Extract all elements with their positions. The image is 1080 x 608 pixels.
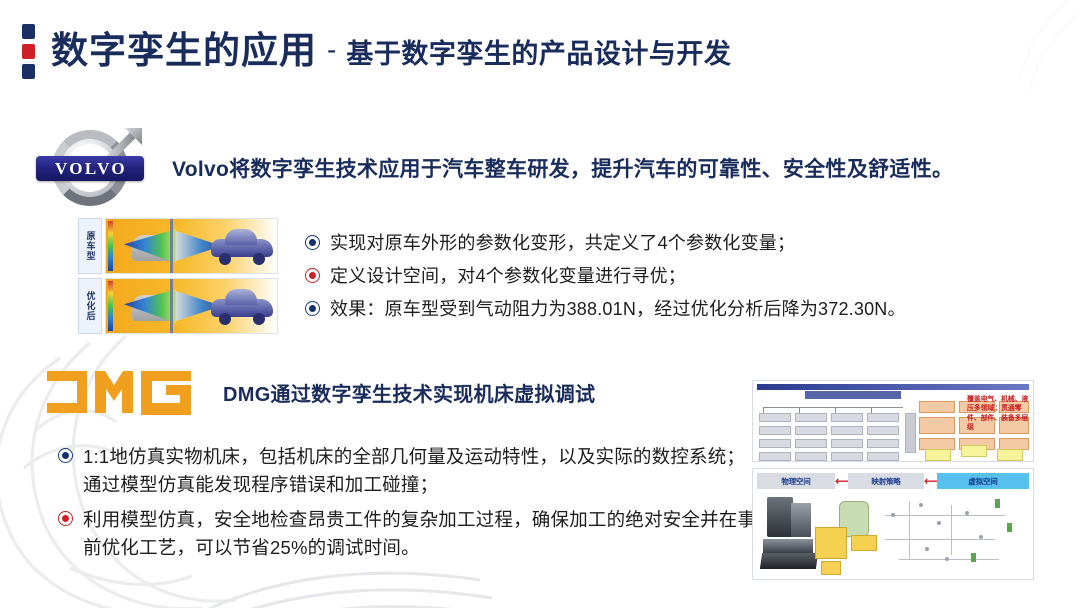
volvo-bullet-list: 实现对原车外形的参数化变形，共定义了4个参数化变量； 定义设计空间，对4个参数化… bbox=[305, 230, 995, 329]
diagram-arrow-right-icon: ⟷ bbox=[924, 475, 937, 487]
list-item: 效果：原车型受到气动阻力为388.01N，经过优化分析后降为372.30N。 bbox=[305, 296, 995, 322]
diagram-label-virtual-space: 虚拟空间 bbox=[937, 473, 1029, 489]
bullet-text: 效果：原车型受到气动阻力为388.01N，经过优化分析后降为372.30N。 bbox=[330, 296, 906, 322]
title-marker-square-top bbox=[22, 24, 35, 39]
diagram-panel-hierarchy: 覆盖电气、机械、液压多领域；贯通零件、部件、装备多层级 bbox=[752, 380, 1034, 462]
cfd-row-optimized: 优化后 bbox=[78, 278, 278, 334]
dmg-diagram-figure: 覆盖电气、机械、液压多领域；贯通零件、部件、装备多层级 物理空间 ⟷ 映射策略 … bbox=[752, 380, 1034, 580]
title-marker-square-middle bbox=[22, 44, 35, 59]
dmg-bullet-list: 1:1地仿真实物机床，包括机床的全部几何量及运动特性，以及实际的数控系统；通过模… bbox=[58, 443, 758, 569]
diagram-yellow-box-1 bbox=[925, 449, 951, 461]
bullet-dot-navy-icon bbox=[305, 301, 320, 316]
diagram-tree bbox=[759, 403, 911, 459]
page-subtitle: 基于数字孪生的产品设计与开发 bbox=[346, 32, 731, 71]
diagram-yellow-module-main bbox=[815, 527, 847, 559]
diagram-yellow-box-3 bbox=[997, 449, 1023, 461]
diagram-red-annotation: 覆盖电气、机械、液压多领域；贯通零件、部件、装备多层级 bbox=[967, 395, 1029, 433]
diagram-panel-mapping: 物理空间 ⟷ 映射策略 ⟷ 虚拟空间 bbox=[752, 468, 1034, 580]
diagram-label-mapping-strategy: 映射策略 bbox=[848, 473, 924, 489]
dmg-logo-mark bbox=[45, 369, 197, 415]
list-item: 利用模型仿真，安全地检查昂贵工件的复杂加工过程，确保加工的绝对安全并在事前优化工… bbox=[58, 506, 758, 562]
list-item: 1:1地仿真实物机床，包括机床的全部几何量及运动特性，以及实际的数控系统；通过模… bbox=[58, 443, 758, 499]
cfd-car-3d-2 bbox=[211, 287, 273, 325]
dmg-logo bbox=[45, 368, 197, 416]
bullet-text: 实现对原车外形的参数化变形，共定义了4个参数化变量； bbox=[330, 230, 795, 256]
dmg-heading: DMG通过数字孪生技术实现机床虚拟调试 bbox=[223, 378, 595, 407]
volvo-wordmark-bar: VOLVO bbox=[36, 156, 144, 181]
diagram-virtual-network bbox=[879, 495, 1029, 575]
diagram-mapping-header: 物理空间 ⟷ 映射策略 ⟷ 虚拟空间 bbox=[757, 473, 1029, 489]
diagram-orange-column-1 bbox=[919, 401, 955, 454]
cfd-row-original: 原车型 bbox=[78, 218, 278, 274]
slide-root: 数字孪生的应用 - 基于数字孪生的产品设计与开发 VOLVO Volvo将数字孪… bbox=[0, 0, 1080, 608]
slide-title-row: 数字孪生的应用 - 基于数字孪生的产品设计与开发 bbox=[22, 24, 731, 79]
diagram-title-bar bbox=[757, 384, 1029, 390]
page-title: 数字孪生的应用 bbox=[51, 32, 317, 69]
cfd-colorbar-2 bbox=[108, 281, 113, 331]
cfd-pane-optimized bbox=[105, 278, 278, 334]
volvo-wordmark-text: VOLVO bbox=[53, 159, 127, 179]
bullet-dot-red-icon bbox=[58, 511, 73, 526]
title-marker-square-bottom bbox=[22, 64, 35, 79]
cfd-divider bbox=[170, 219, 173, 273]
cfd-colorbar bbox=[108, 221, 113, 271]
cfd-pane-original bbox=[105, 218, 278, 274]
diagram-yellow-module-bottom bbox=[821, 561, 841, 575]
diagram-label-physical-space: 物理空间 bbox=[757, 473, 835, 489]
cfd-label-optimized: 优化后 bbox=[78, 278, 102, 334]
title-separator-dash: - bbox=[327, 34, 336, 66]
bullet-dot-red-icon bbox=[305, 268, 320, 283]
bullet-text: 利用模型仿真，安全地检查昂贵工件的复杂加工过程，确保加工的绝对安全并在事前优化工… bbox=[83, 506, 758, 562]
diagram-title-placeholder bbox=[805, 391, 901, 399]
cfd-label-original: 原车型 bbox=[78, 218, 102, 274]
diagram-yellow-module-side bbox=[851, 535, 877, 551]
bullet-text: 1:1地仿真实物机床，包括机床的全部几何量及运动特性，以及实际的数控系统；通过模… bbox=[83, 443, 758, 499]
list-item: 定义设计空间，对4个参数化变量进行寻优； bbox=[305, 263, 995, 289]
volvo-logo: VOLVO bbox=[36, 126, 148, 210]
diagram-arrow-left-icon: ⟷ bbox=[835, 475, 848, 487]
volvo-heading: Volvo将数字孪生技术应用于汽车整车研发，提升汽车的可靠性、安全性及舒适性。 bbox=[172, 153, 953, 183]
cfd-divider-2 bbox=[170, 279, 173, 333]
dmg-header-row: DMG通过数字孪生技术实现机床虚拟调试 bbox=[45, 368, 595, 416]
volvo-header-row: VOLVO Volvo将数字孪生技术应用于汽车整车研发，提升汽车的可靠性、安全性… bbox=[36, 126, 953, 210]
bullet-text: 定义设计空间，对4个参数化变量进行寻优； bbox=[330, 263, 686, 289]
diagram-machine-tool-photo bbox=[761, 495, 817, 573]
title-marker-group bbox=[22, 24, 35, 79]
diagram-yellow-box-2 bbox=[961, 445, 987, 457]
bullet-dot-navy-icon bbox=[58, 448, 73, 463]
bullet-dot-navy-icon bbox=[305, 235, 320, 250]
cfd-car-3d bbox=[211, 227, 273, 265]
list-item: 实现对原车外形的参数化变形，共定义了4个参数化变量； bbox=[305, 230, 995, 256]
volvo-cfd-figure: 原车型 优化后 bbox=[78, 218, 278, 334]
